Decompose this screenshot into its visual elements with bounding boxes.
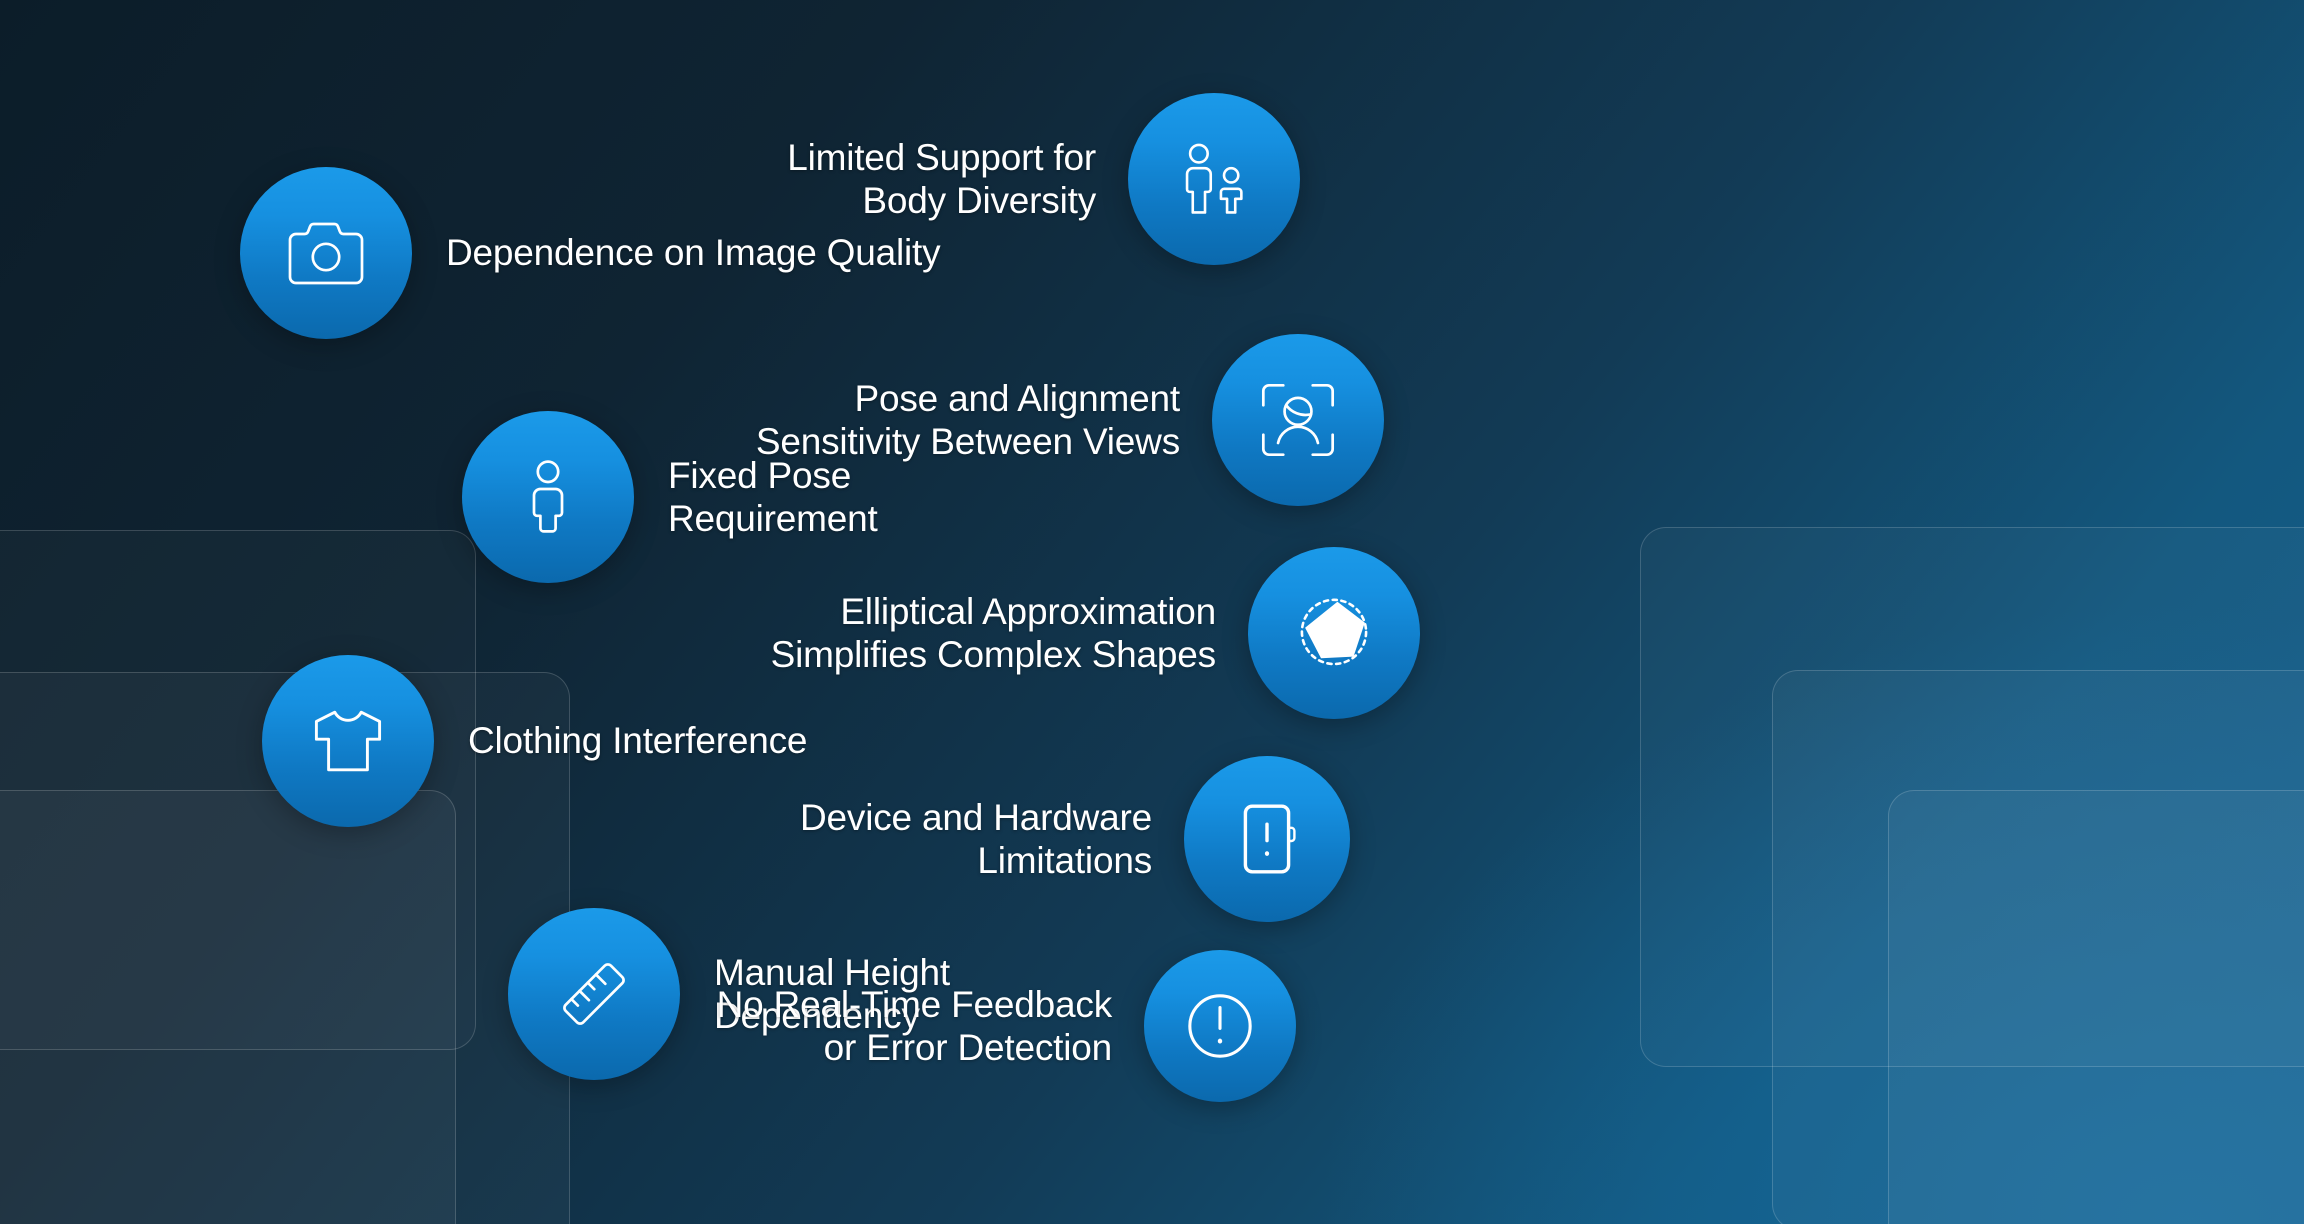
camera-icon <box>240 167 412 339</box>
feature-row-limited-support-body-diversity[interactable]: Limited Support for Body Diversity <box>787 93 1300 265</box>
feature-row-elliptical-approximation[interactable]: Elliptical Approximation Simplifies Comp… <box>771 547 1420 719</box>
face-scan-icon <box>1212 334 1384 506</box>
feature-label: Pose and Alignment Sensitivity Between V… <box>756 377 1180 464</box>
feature-row-device-hardware-limitations[interactable]: Device and Hardware Limitations <box>800 756 1350 922</box>
feature-row-pose-alignment-sensitivity[interactable]: Pose and Alignment Sensitivity Between V… <box>756 334 1384 506</box>
tshirt-icon <box>262 655 434 827</box>
phone-alert-icon <box>1184 756 1350 922</box>
exclamation-circle-icon <box>1144 950 1296 1102</box>
feature-label: Limited Support for Body Diversity <box>787 136 1096 223</box>
feature-label: Device and Hardware Limitations <box>800 796 1152 883</box>
dashed-ellipse-polygon-icon <box>1248 547 1420 719</box>
feature-label: No Real-Time Feedback or Error Detection <box>717 983 1112 1070</box>
background-panel-right-3 <box>1888 790 2304 1224</box>
two-people-icon <box>1128 93 1300 265</box>
person-standing-icon <box>462 411 634 583</box>
background-panel-left-3 <box>0 790 456 1224</box>
feature-row-clothing-interference[interactable]: Clothing Interference <box>262 655 807 827</box>
feature-row-no-realtime-feedback[interactable]: No Real-Time Feedback or Error Detection <box>717 950 1296 1102</box>
feature-label: Clothing Interference <box>468 719 807 762</box>
ruler-icon <box>508 908 680 1080</box>
feature-label: Elliptical Approximation Simplifies Comp… <box>771 590 1216 677</box>
slide-canvas: Dependence on Image Quality Fixed Pose R… <box>0 0 2304 1224</box>
